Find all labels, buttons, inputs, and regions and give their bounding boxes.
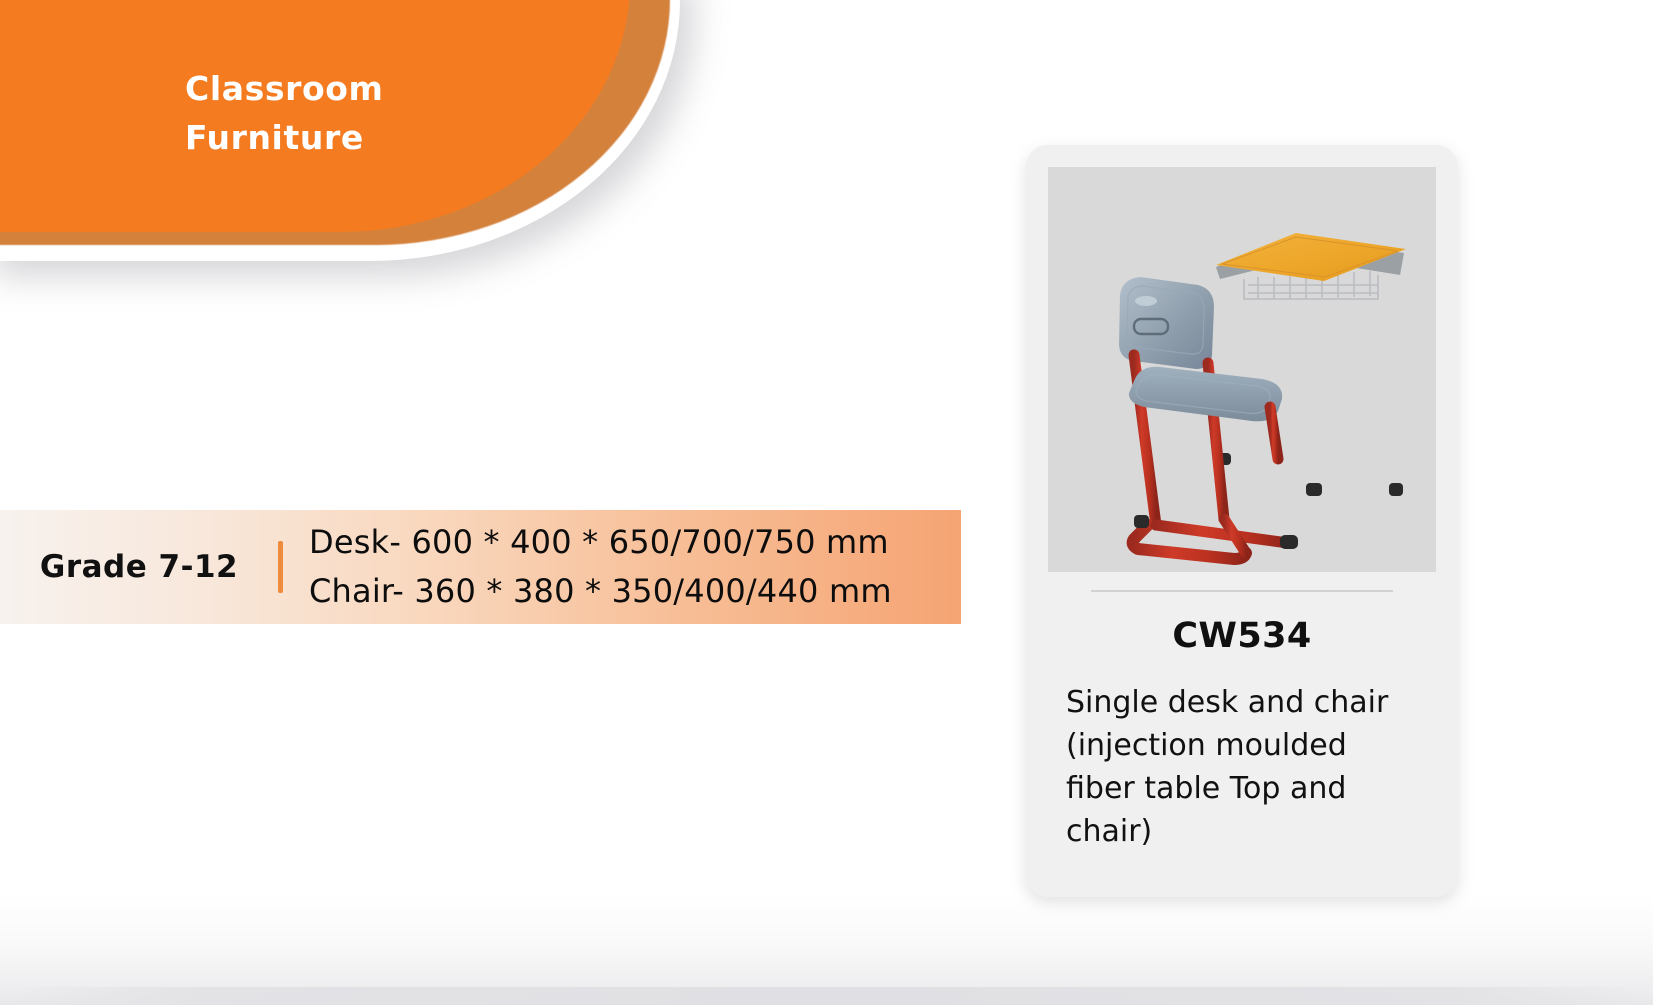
dimension-list: Desk- 600 * 400 * 650/700/750 mm Chair- … xyxy=(283,519,892,616)
grade-label: Grade 7-12 xyxy=(0,549,278,585)
slide-canvas: Classroom Furniture Grade 7-12 Desk- 600… xyxy=(0,0,1653,1005)
bottom-gradient-band xyxy=(0,895,1653,1005)
product-photo xyxy=(1048,167,1436,572)
page-title: Classroom Furniture xyxy=(185,65,605,163)
card-divider-rule xyxy=(1091,590,1393,592)
header-banner: Classroom Furniture xyxy=(0,0,720,290)
specification-bar: Grade 7-12 Desk- 600 * 400 * 650/700/750… xyxy=(0,510,961,624)
desk-and-chair-illustration xyxy=(1048,167,1436,572)
product-code: CW534 xyxy=(1048,616,1436,656)
product-description: Single desk and chair (injection moulded… xyxy=(1066,682,1422,854)
dimension-line-chair: Chair- 360 * 380 * 350/400/440 mm xyxy=(309,568,892,615)
product-card[interactable]: CW534 Single desk and chair (injection m… xyxy=(1026,145,1458,897)
dimension-line-desk: Desk- 600 * 400 * 650/700/750 mm xyxy=(309,519,892,566)
